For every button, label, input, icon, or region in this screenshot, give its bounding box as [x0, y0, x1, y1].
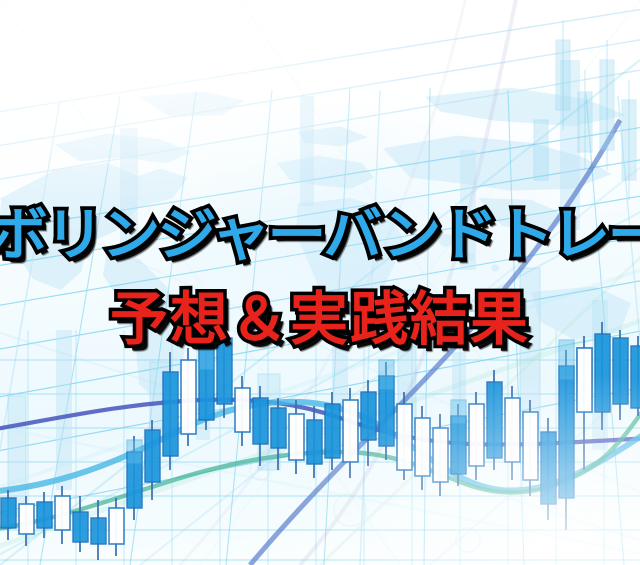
moving-average-lines — [0, 0, 640, 565]
ma-long-line — [0, 400, 640, 445]
faint-upper-candles — [0, 0, 640, 565]
diagonal-rays — [0, 0, 640, 565]
perspective-grid — [0, 0, 640, 565]
title-main-line: ボリンジャーバンドトレーディング — [0, 198, 640, 272]
ma-rising-line — [250, 120, 620, 565]
title-block: ボリンジャーバンドトレーディング 予想＆実践結果 — [0, 0, 640, 565]
ghost-bars — [0, 0, 640, 565]
world-map-silhouette — [0, 0, 640, 565]
title-sub-line: 予想＆実践結果 — [0, 282, 640, 356]
thumbnail-image: ボリンジャーバンドトレーディング 予想＆実践結果 — [0, 0, 640, 565]
chart-gridlines — [0, 0, 640, 565]
white-glow-overlay — [0, 0, 640, 565]
candlestick-series — [0, 0, 640, 565]
background-gradient — [0, 0, 640, 565]
ma-short-line — [0, 400, 640, 530]
ma-mid-line — [0, 402, 640, 492]
